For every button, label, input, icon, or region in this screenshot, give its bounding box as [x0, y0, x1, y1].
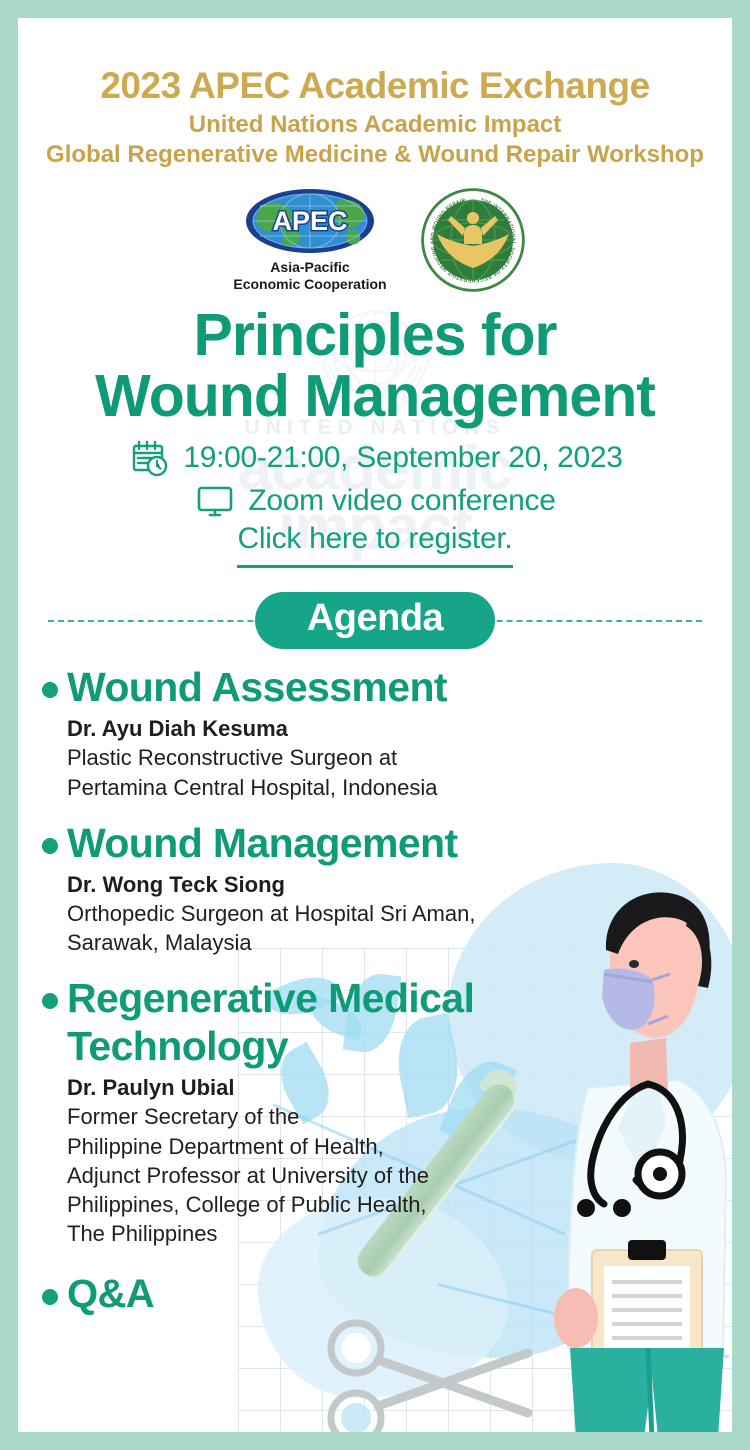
- agenda-item: Wound Management Dr. Wong Teck Siong Ort…: [42, 820, 718, 958]
- agenda-item-header: Regenerative Medical Technology: [42, 975, 718, 1071]
- header-line-2: United Nations Academic Impact: [32, 110, 718, 140]
- poster-content: 2023 APEC Academic Exchange United Natio…: [18, 18, 732, 1317]
- monitor-icon: [194, 482, 236, 520]
- apec-globe-logo-icon: APEC: [244, 188, 376, 254]
- apec-caption: Asia-Pacific Economic Cooperation: [233, 259, 386, 293]
- speaker-affiliation: Sarawak, Malaysia: [67, 928, 718, 957]
- speaker-affiliation: Pertamina Central Hospital, Indonesia: [67, 773, 718, 802]
- speaker-affiliation: Adjunct Professor at University of the: [67, 1161, 718, 1190]
- header-line-3: Global Regenerative Medicine & Wound Rep…: [32, 140, 718, 170]
- speaker-name: Dr. Paulyn Ubial: [67, 1073, 718, 1102]
- isrmwr-seal-logo-icon: THE INTERNATIONAL SOCIETY OF REGENERATIV…: [421, 188, 525, 292]
- agenda-divider: Agenda: [32, 590, 718, 650]
- title-line-1: Principles for: [32, 305, 718, 366]
- datetime-row: 19:00-21:00, September 20, 2023: [32, 436, 718, 480]
- agenda-list: Wound Assessment Dr. Ayu Diah Kesuma Pla…: [32, 664, 718, 1317]
- agenda-item-title: Regenerative Medical Technology: [67, 975, 587, 1071]
- register-underline: [237, 565, 513, 568]
- event-datetime: 19:00-21:00, September 20, 2023: [183, 441, 622, 475]
- header-line-1: 2023 APEC Academic Exchange: [32, 66, 718, 107]
- title-line-2: Wound Management: [32, 366, 718, 427]
- agenda-item-header: Wound Assessment: [42, 664, 718, 712]
- bullet-icon: [42, 993, 58, 1009]
- agenda-item-header: Wound Management: [42, 820, 718, 868]
- speaker-affiliation: Plastic Reconstructive Surgeon at: [67, 743, 718, 772]
- agenda-item-header: Q&A: [42, 1271, 718, 1318]
- register-link[interactable]: Click here to register.: [32, 522, 718, 556]
- poster-card: UNITED NATIONS academic impact 2023 APEC…: [18, 18, 732, 1432]
- agenda-item: Wound Assessment Dr. Ayu Diah Kesuma Pla…: [42, 664, 718, 802]
- speaker-affiliation: The Philippines: [67, 1219, 718, 1248]
- bullet-icon: [42, 682, 58, 698]
- svg-text:APEC: APEC: [272, 206, 347, 236]
- apec-caption-line1: Asia-Pacific: [270, 259, 349, 275]
- logo-row: APEC Asia-Pacific Economic Cooperation: [32, 188, 718, 293]
- agenda-item-title: Wound Management: [67, 820, 458, 868]
- event-details: 19:00-21:00, September 20, 2023 Zoom vid…: [32, 436, 718, 568]
- speaker-name: Dr. Ayu Diah Kesuma: [67, 714, 718, 743]
- speaker-affiliation: Philippines, College of Public Health,: [67, 1190, 718, 1219]
- speaker-affiliation: Former Secretary of the: [67, 1102, 718, 1131]
- surgical-scissors-illustration: [318, 1318, 538, 1432]
- apec-caption-line2: Economic Cooperation: [233, 276, 386, 292]
- agenda-item-body: Dr. Ayu Diah Kesuma Plastic Reconstructi…: [42, 714, 718, 802]
- agenda-item-title: Wound Assessment: [67, 664, 447, 712]
- event-platform: Zoom video conference: [248, 484, 555, 518]
- calendar-clock-icon: [127, 436, 171, 480]
- apec-logo: APEC Asia-Pacific Economic Cooperation: [225, 188, 395, 293]
- speaker-name: Dr. Wong Teck Siong: [67, 870, 718, 899]
- agenda-item: Regenerative Medical Technology Dr. Paul…: [42, 975, 718, 1248]
- agenda-item-title: Q&A: [67, 1271, 154, 1318]
- agenda-item: Q&A: [42, 1271, 718, 1318]
- agenda-item-body: Dr. Paulyn Ubial Former Secretary of the…: [42, 1073, 718, 1248]
- platform-row: Zoom video conference: [32, 482, 718, 520]
- agenda-badge: Agenda: [255, 592, 495, 650]
- speaker-affiliation: Orthopedic Surgeon at Hospital Sri Aman,: [67, 899, 718, 928]
- poster-header: 2023 APEC Academic Exchange United Natio…: [32, 18, 718, 170]
- bullet-icon: [42, 1289, 58, 1305]
- bullet-icon: [42, 838, 58, 854]
- agenda-item-body: Dr. Wong Teck Siong Orthopedic Surgeon a…: [42, 870, 718, 958]
- speaker-affiliation: Philippine Department of Health,: [67, 1132, 718, 1161]
- page-title: Principles for Wound Management: [32, 305, 718, 427]
